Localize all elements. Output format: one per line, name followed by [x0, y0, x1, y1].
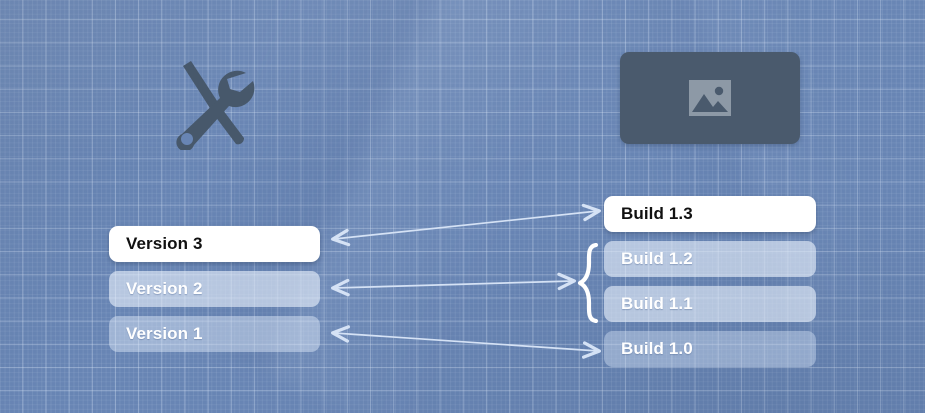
- build-box-1-3[interactable]: Build 1.3: [604, 196, 816, 232]
- build-label: Build 1.3: [621, 204, 693, 224]
- version-box-3[interactable]: Version 3: [109, 226, 320, 262]
- version-label: Version 3: [126, 234, 203, 254]
- diagram-canvas: Version 3 Version 2 Version 1 Build 1.3 …: [0, 0, 925, 413]
- version-box-2[interactable]: Version 2: [109, 271, 320, 307]
- version-box-1[interactable]: Version 1: [109, 316, 320, 352]
- build-box-1-0[interactable]: Build 1.0: [604, 331, 816, 367]
- image-placeholder-card: [620, 52, 800, 144]
- group-brace: [576, 243, 602, 323]
- version-label: Version 1: [126, 324, 203, 344]
- build-box-1-1[interactable]: Build 1.1: [604, 286, 816, 322]
- tools-icon: [160, 50, 260, 150]
- image-placeholder-icon: [688, 79, 732, 117]
- build-label: Build 1.2: [621, 249, 693, 269]
- version-label: Version 2: [126, 279, 203, 299]
- build-box-1-2[interactable]: Build 1.2: [604, 241, 816, 277]
- build-label: Build 1.1: [621, 294, 693, 314]
- build-label: Build 1.0: [621, 339, 693, 359]
